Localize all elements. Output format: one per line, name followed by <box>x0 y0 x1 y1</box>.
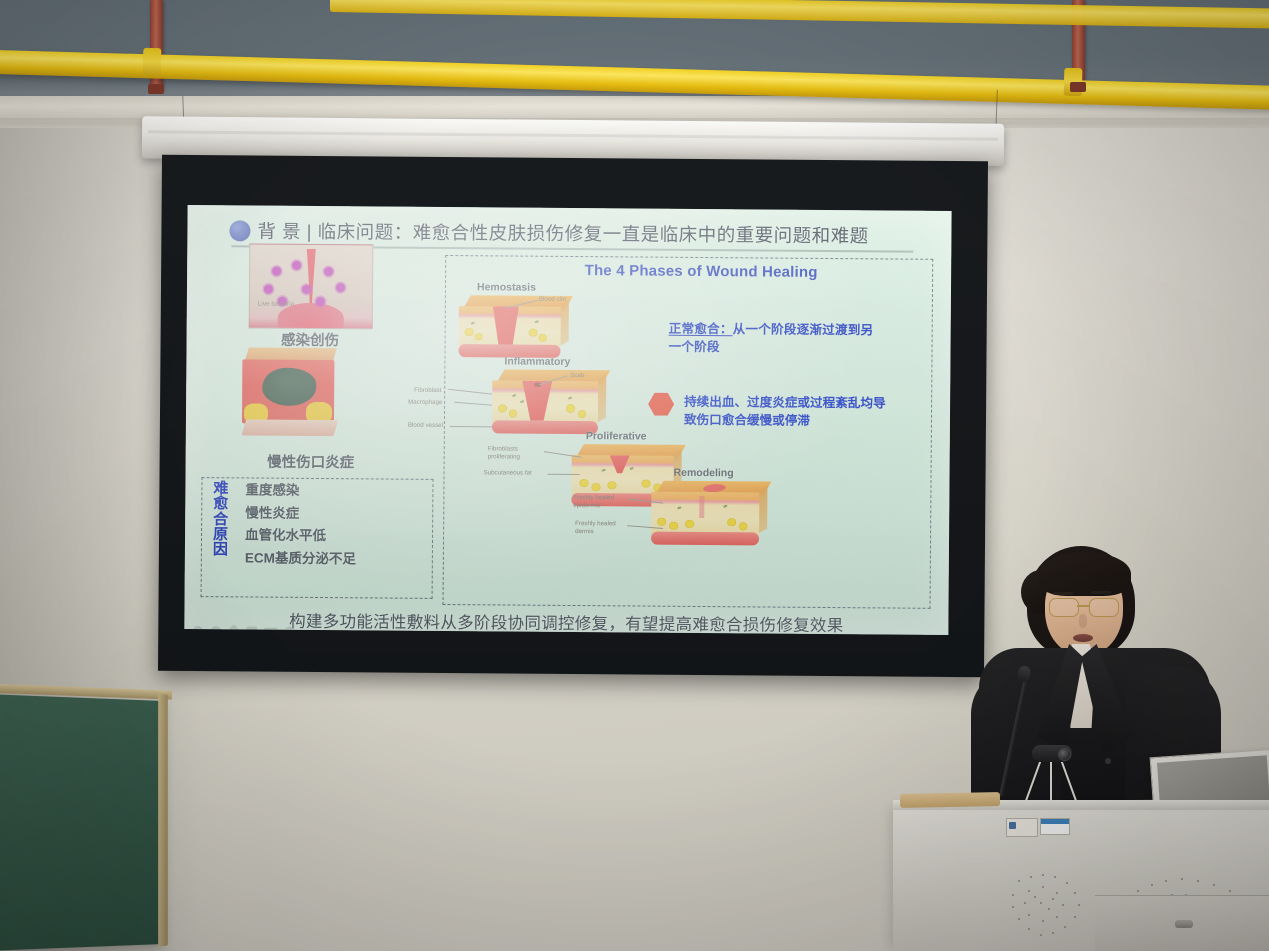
eyebrow <box>1091 591 1111 594</box>
cause-char: 愈 <box>213 496 239 512</box>
fat-globule <box>579 479 588 487</box>
fat-globule <box>475 333 483 340</box>
healed-scar-mark <box>701 484 728 492</box>
bacteria-dot <box>292 261 301 270</box>
chalkboard-frame-right <box>158 694 168 946</box>
fat-globule <box>607 481 616 489</box>
fat-globule <box>591 483 600 491</box>
lecture-hall-photo: 背 景 | 临床问题：难愈合性皮肤损伤修复一直是临床中的重要问题和难题 Live… <box>0 0 1269 951</box>
cause-item: ECM基质分泌不足 <box>245 551 356 565</box>
webcam-icon <box>1032 745 1072 762</box>
fat-globule <box>566 404 575 413</box>
skin-cross-section <box>492 380 598 424</box>
podium-wood-edge <box>900 792 1000 808</box>
prev-slide-icon[interactable] <box>192 626 203 635</box>
pipe-joint <box>143 48 162 76</box>
bacteria-dot <box>336 283 345 292</box>
presentation-toolbar[interactable]: ‹ <box>192 626 305 635</box>
podium-info-label <box>1040 818 1070 835</box>
fat-globule <box>498 404 507 412</box>
bacteria-dot <box>316 297 325 306</box>
bullet-circle-icon <box>229 220 250 241</box>
next-slide-icon[interactable] <box>210 626 221 635</box>
skin-block-remodeling <box>651 481 767 546</box>
nose <box>1079 614 1087 628</box>
chalkboard <box>0 694 160 951</box>
annotation-blood-clot: Blood clot <box>539 296 566 304</box>
cause-char: 因 <box>213 542 239 558</box>
annotation-freshly-healed-epidermis: Freshly healed epidermis <box>573 494 627 510</box>
healed-dermis-column <box>699 496 704 518</box>
cause-char: 原 <box>213 527 239 543</box>
phase-label-proliferative: Proliferative <box>586 430 647 442</box>
annotation-freshly-healed-dermis: Freshly healed dermis <box>575 520 627 536</box>
cell-marker <box>535 320 539 323</box>
pointer-tool-icon[interactable] <box>246 626 257 635</box>
lens-left <box>1049 598 1079 617</box>
chronic-wound-image <box>242 347 339 440</box>
phase-label-remodeling: Remodeling <box>674 467 734 479</box>
cause-char: 合 <box>213 512 239 528</box>
fat-globule <box>657 518 666 526</box>
normal-healing-note: 正常愈合：从一个阶段逐渐过渡到另一个阶段 <box>668 321 883 358</box>
blazer-button <box>1105 758 1111 764</box>
macrophage-marker <box>520 400 524 403</box>
tissue-base <box>242 419 339 436</box>
fibroblast-marker <box>568 396 572 399</box>
diagram-title: The 4 Phases of Wound Healing <box>501 261 901 281</box>
cell-marker <box>723 505 727 508</box>
slide-conclusion: 构建多功能活性敷料从多阶段协同调控修复，有望提高难愈合损伤修复效果 <box>196 607 936 635</box>
cell-marker <box>471 322 475 325</box>
fat-globule <box>669 522 678 530</box>
presentation-slide: 背 景 | 临床问题：难愈合性皮肤损伤修复一直是临床中的重要问题和难题 Live… <box>184 205 951 635</box>
fat-globule <box>685 520 694 528</box>
fibroblast-marker <box>601 469 605 472</box>
annotation-scab: Scab <box>570 372 584 380</box>
live-bacteria-label: Live bacteria <box>258 301 294 308</box>
pipe-bracket <box>148 84 164 94</box>
projector-screen: 背 景 | 临床问题：难愈合性皮肤损伤修复一直是临床中的重要问题和难题 Live… <box>158 155 988 677</box>
fat-globule <box>509 409 517 417</box>
eyebrow <box>1053 592 1073 595</box>
wound-wedge <box>610 455 630 473</box>
cause-item: 血管化水平低 <box>245 528 356 542</box>
bacteria-dot <box>264 285 273 294</box>
infected-wound-image: Live bacteria <box>249 243 374 329</box>
webcam-lens <box>1058 748 1071 761</box>
mouth <box>1073 634 1093 642</box>
cause-item: 重度感染 <box>245 483 356 497</box>
annotation-subcutaneous-fat: Subcutaneous fat <box>484 469 532 477</box>
macrophage-marker <box>512 394 516 397</box>
collapse-chevron-icon[interactable]: ‹ <box>302 627 305 635</box>
pen-tool-icon[interactable] <box>226 624 242 635</box>
phase-label-inflammatory: Inflammatory <box>504 355 570 368</box>
fat-globule <box>529 329 538 337</box>
normal-healing-label: 正常愈合： <box>669 322 733 337</box>
hair-fringe <box>1039 552 1131 596</box>
podium-speaker-perforation <box>1008 870 1094 940</box>
cause-item: 慢性炎症 <box>245 506 356 520</box>
glasses-bridge <box>1077 605 1089 607</box>
fat-globule <box>539 334 547 342</box>
screen-tool-icon[interactable] <box>264 628 277 635</box>
fibroblast-marker <box>629 467 633 470</box>
drawer-handle[interactable] <box>1175 920 1193 928</box>
annotation-fibroblasts-proliferating: Fibroblasts proliferating <box>488 445 544 461</box>
tissue-front-face <box>242 359 334 424</box>
fat-globule <box>578 410 586 418</box>
cause-vertical-label: 难 愈 合 原 因 <box>213 481 240 558</box>
bacteria-dot <box>324 267 333 276</box>
fat-globule <box>739 522 747 530</box>
cell-marker <box>677 506 681 509</box>
blood-vessel <box>492 420 598 434</box>
bacteria-dot <box>272 267 281 276</box>
abnormal-healing-note: 持续出血、过度炎症或过程紊乱均导致伤口愈合缓慢或停滞 <box>684 394 892 431</box>
blood-vessel <box>651 532 759 546</box>
chronic-wound-caption: 慢性伤口炎症 <box>216 450 406 472</box>
wound-wedge <box>493 306 519 348</box>
annotation-macrophage: Macrophage <box>408 399 442 407</box>
skin-cross-section <box>459 306 561 348</box>
fat-globule <box>641 480 650 488</box>
more-menu-icon[interactable] <box>284 627 295 635</box>
bacteria-dot <box>302 285 311 294</box>
skin-cross-section <box>651 492 759 536</box>
lens-right <box>1089 598 1119 617</box>
podium-asset-tag <box>1006 818 1038 837</box>
skin-block-inflammatory <box>492 369 606 434</box>
phase-label-hemostasis: Hemostasis <box>477 281 536 293</box>
fat-globule <box>727 518 736 526</box>
annotation-fibroblast: Fibroblast <box>414 387 441 395</box>
pipe-bracket <box>1070 82 1086 92</box>
annotation-blood-vessel: Blood vessel <box>408 422 443 430</box>
cause-list: 重度感染 慢性炎症 血管化水平低 ECM基质分泌不足 <box>245 483 357 574</box>
necrotic-tissue <box>262 368 316 406</box>
fat-globule <box>465 328 474 336</box>
